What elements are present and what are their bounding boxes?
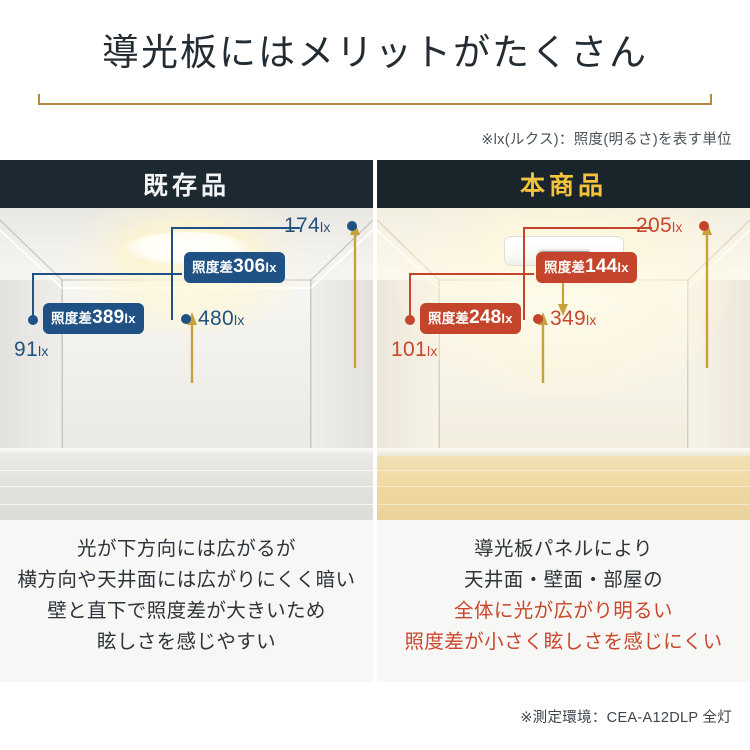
measurement-overlay-existing: 174lx 照度差306lx 480lx 照度差389lx 91lx	[0, 208, 373, 520]
caption-existing: 光が下方向には広がるが 横方向や天井面には広がりにくく暗い 壁と直下で照度差が大…	[0, 520, 373, 682]
caption-line-highlight: 照度差が小さく眩しさを感じにくい	[377, 627, 750, 658]
column-existing-product: 既存品	[0, 160, 373, 682]
caption-line: 光が下方向には広がるが	[0, 534, 373, 565]
unit-note: ※lx(ルクス)：照度(明るさ)を表す単位	[481, 128, 732, 149]
measurement-overlay-product: 205lx 照度差144lx 349lx 照度差248lx 101lx	[377, 208, 750, 520]
value-wall-lower: 101lx	[391, 338, 438, 362]
value-floor-center: 480lx	[198, 307, 245, 331]
header-product-label: 本商品	[520, 166, 607, 202]
rule-bar	[38, 103, 712, 105]
badge-diff-lower: 照度差389lx	[43, 303, 144, 334]
caption-line: 天井面・壁面・部屋の	[377, 565, 750, 596]
caption-line: 横方向や天井面には広がりにくく暗い	[0, 565, 373, 596]
badge-diff-upper: 照度差144lx	[536, 252, 637, 283]
value-wall-lower: 91lx	[14, 338, 49, 362]
caption-line: 壁と直下で照度差が大きいため	[0, 596, 373, 627]
page-title: 導光板にはメリットがたくさん	[0, 22, 750, 76]
value-floor-center: 349lx	[550, 307, 597, 331]
value-wall-upper: 205lx	[636, 214, 683, 238]
header-existing-label: 既存品	[143, 166, 230, 202]
header-existing: 既存品	[0, 160, 373, 208]
header-product: 本商品	[377, 160, 750, 208]
caption-product: 導光板パネルにより 天井面・壁面・部屋の 全体に光が広がり明るい 照度差が小さく…	[377, 520, 750, 682]
caption-line: 導光板パネルにより	[377, 534, 750, 565]
badge-diff-lower: 照度差248lx	[420, 303, 521, 334]
column-this-product: 本商品	[377, 160, 750, 682]
rule-tick-right	[710, 94, 712, 105]
title-area: 導光板にはメリットがたくさん	[0, 0, 750, 120]
footnote: ※測定環境：CEA-A12DLP 全灯	[520, 706, 732, 727]
caption-line-highlight: 全体に光が広がり明るい	[377, 596, 750, 627]
value-wall-upper: 174lx	[284, 214, 331, 238]
caption-line: 眩しさを感じやすい	[0, 627, 373, 658]
comparison-panels: 既存品	[0, 160, 750, 682]
title-underline-rule	[38, 94, 712, 106]
badge-diff-upper: 照度差306lx	[184, 252, 285, 283]
